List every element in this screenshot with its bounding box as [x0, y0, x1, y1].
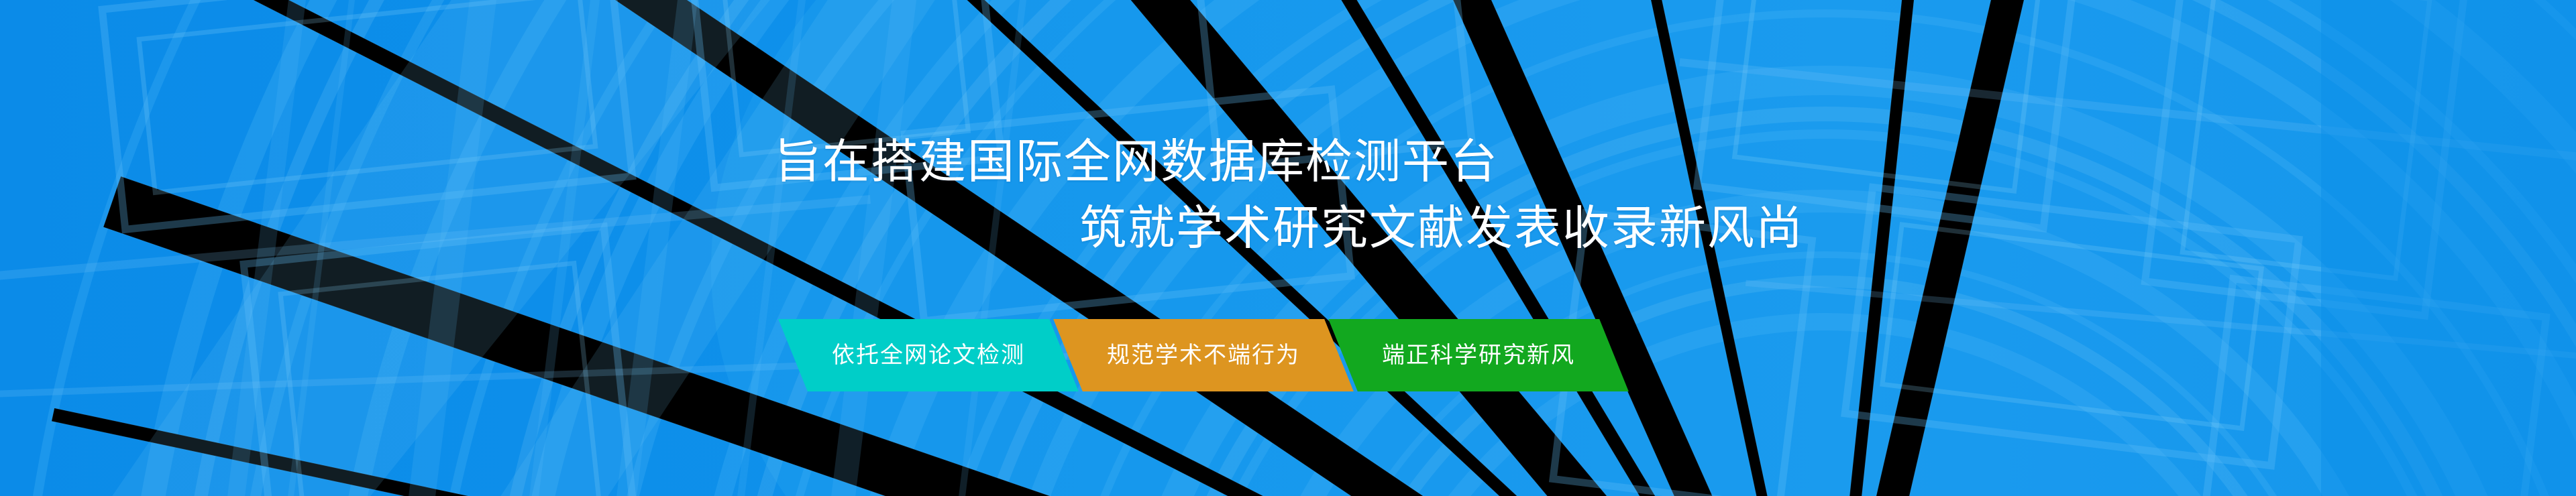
headline-block: 旨在搭建国际全网数据库检测平台 筑就学术研究文献发表收录新风尚 — [0, 0, 2576, 496]
headline-line-1: 旨在搭建国际全网数据库检测平台 — [774, 138, 1499, 185]
feature-badge-misconduct[interactable]: 规范学术不端行为 — [1053, 319, 1354, 391]
feature-badge-strip: 依托全网论文检测 规范学术不端行为 端正科学研究新风 — [793, 319, 1614, 391]
feature-badge-research-ethos[interactable]: 端正科学研究新风 — [1328, 319, 1629, 391]
feature-badge-paper-detection[interactable]: 依托全网论文检测 — [778, 319, 1079, 391]
headline-line-2: 筑就学术研究文献发表收录新风尚 — [1079, 204, 1804, 251]
feature-badge-label: 端正科学研究新风 — [1359, 344, 1598, 367]
feature-badge-label: 依托全网论文检测 — [809, 344, 1048, 367]
promo-banner: 旨在搭建国际全网数据库检测平台 筑就学术研究文献发表收录新风尚 依托全网论文检测… — [0, 0, 2576, 496]
feature-badge-label: 规范学术不端行为 — [1084, 344, 1323, 367]
